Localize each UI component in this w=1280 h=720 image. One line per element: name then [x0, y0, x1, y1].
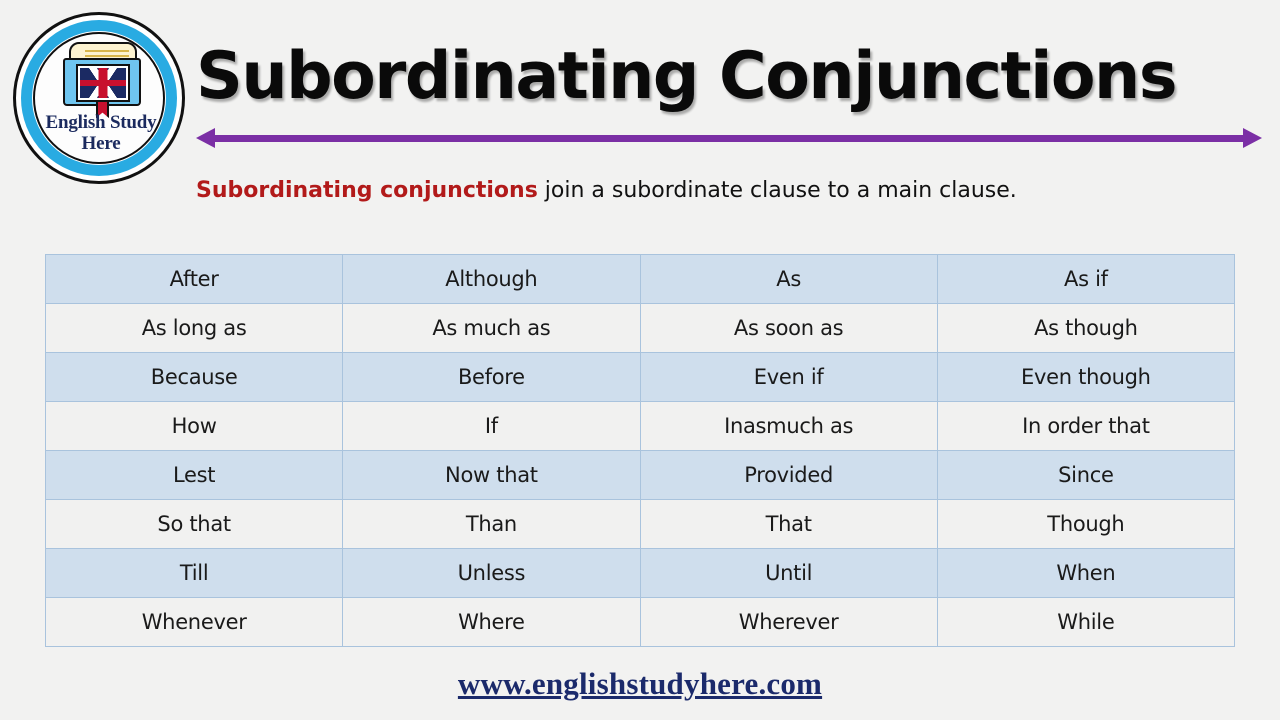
uk-flag-graphic [80, 68, 126, 98]
page-title: Subordinating Conjunctions [196, 41, 1266, 113]
table-cell: Whenever [46, 598, 343, 647]
table-cell: As though [937, 304, 1234, 353]
table-cell: Although [343, 255, 640, 304]
subtitle-rest: join a subordinate clause to a main clau… [538, 178, 1017, 203]
table-cell: After [46, 255, 343, 304]
table-cell: As much as [343, 304, 640, 353]
table-cell: If [343, 402, 640, 451]
table-cell: Until [640, 549, 937, 598]
table-cell: As long as [46, 304, 343, 353]
table-cell: Though [937, 500, 1234, 549]
table-cell: Inasmuch as [640, 402, 937, 451]
table-cell: That [640, 500, 937, 549]
table-row: AfterAlthoughAsAs if [46, 255, 1235, 304]
uk-flag-icon [76, 64, 130, 102]
logo-text-line-2: Here [35, 133, 165, 154]
logo-badge[interactable]: English Study Here [13, 12, 185, 184]
table-cell: Provided [640, 451, 937, 500]
conjunctions-table-body: AfterAlthoughAsAs ifAs long asAs much as… [46, 255, 1235, 647]
table-cell: Than [343, 500, 640, 549]
table-row: BecauseBeforeEven ifEven though [46, 353, 1235, 402]
logo-text: English Study Here [35, 112, 165, 154]
table-cell: Where [343, 598, 640, 647]
arrow-line [212, 135, 1246, 142]
table-row: LestNow thatProvidedSince [46, 451, 1235, 500]
conjunctions-table: AfterAlthoughAsAs ifAs long asAs much as… [45, 254, 1235, 647]
table-cell: Because [46, 353, 343, 402]
double-arrow-divider [196, 128, 1262, 148]
table-cell: Till [46, 549, 343, 598]
book-icon [63, 42, 141, 112]
table-cell: How [46, 402, 343, 451]
table-cell: When [937, 549, 1234, 598]
conjunctions-table-wrapper: AfterAlthoughAsAs ifAs long asAs much as… [45, 254, 1235, 647]
table-row: TillUnlessUntilWhen [46, 549, 1235, 598]
book-text-line [85, 55, 129, 57]
table-cell: Before [343, 353, 640, 402]
subtitle-highlight: Subordinating conjunctions [196, 178, 538, 203]
table-cell: Since [937, 451, 1234, 500]
table-cell: As [640, 255, 937, 304]
table-row: As long asAs much asAs soon asAs though [46, 304, 1235, 353]
table-cell: Even if [640, 353, 937, 402]
header: English Study Here Subordinating Conjunc… [0, 0, 1280, 232]
table-cell: Unless [343, 549, 640, 598]
table-row: HowIfInasmuch asIn order that [46, 402, 1235, 451]
table-cell: In order that [937, 402, 1234, 451]
website-link[interactable]: www.englishstudyhere.com [458, 666, 822, 701]
table-cell: As soon as [640, 304, 937, 353]
book-text-line [85, 50, 129, 52]
table-cell: Wherever [640, 598, 937, 647]
table-cell: Now that [343, 451, 640, 500]
table-cell: Even though [937, 353, 1234, 402]
table-row: So thatThanThatThough [46, 500, 1235, 549]
table-cell: As if [937, 255, 1234, 304]
subtitle: Subordinating conjunctions join a subord… [196, 176, 1256, 206]
table-cell: So that [46, 500, 343, 549]
logo-inner-disc: English Study Here [33, 32, 165, 164]
logo-text-line-1: English Study [35, 112, 165, 133]
footer: www.englishstudyhere.com [0, 666, 1280, 702]
table-row: WheneverWhereWhereverWhile [46, 598, 1235, 647]
table-cell: Lest [46, 451, 343, 500]
arrow-right-icon [1243, 128, 1262, 148]
table-cell: While [937, 598, 1234, 647]
